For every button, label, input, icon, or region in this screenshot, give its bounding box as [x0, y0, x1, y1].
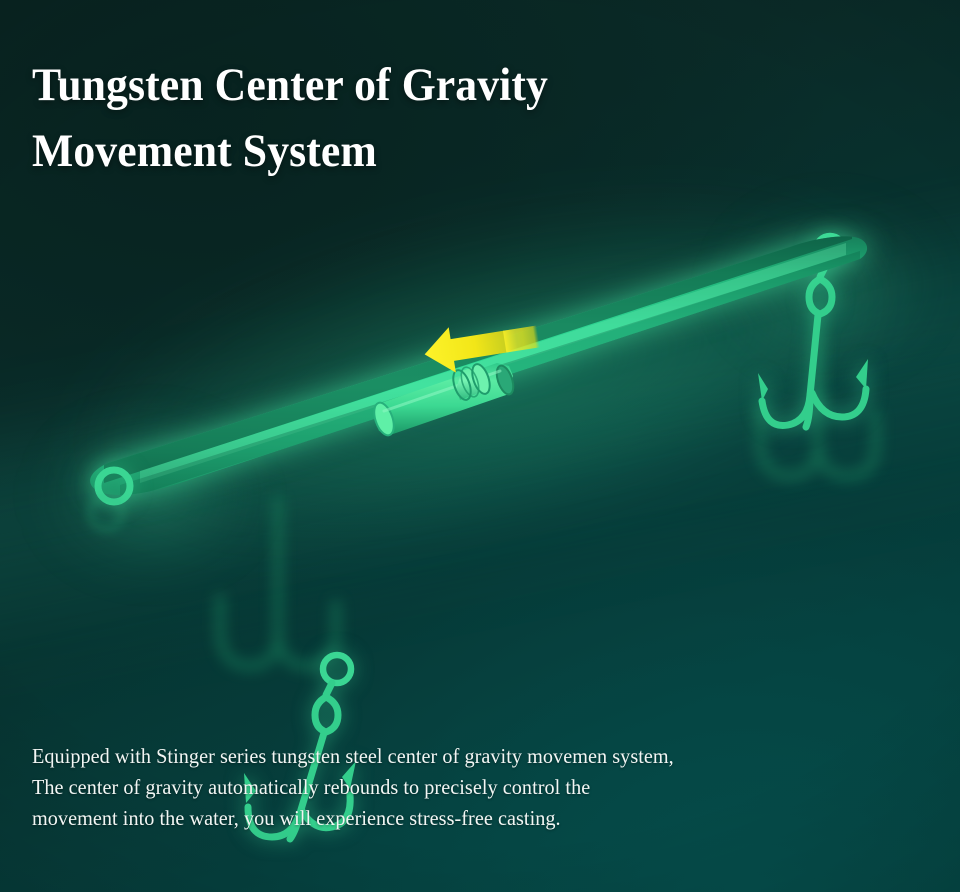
product-feature-banner: Tungsten Center of Gravity Movement Syst…: [0, 0, 960, 892]
page-title: Tungsten Center of Gravity Movement Syst…: [32, 52, 804, 184]
feature-description: Equipped with Stinger series tungsten st…: [32, 741, 859, 834]
